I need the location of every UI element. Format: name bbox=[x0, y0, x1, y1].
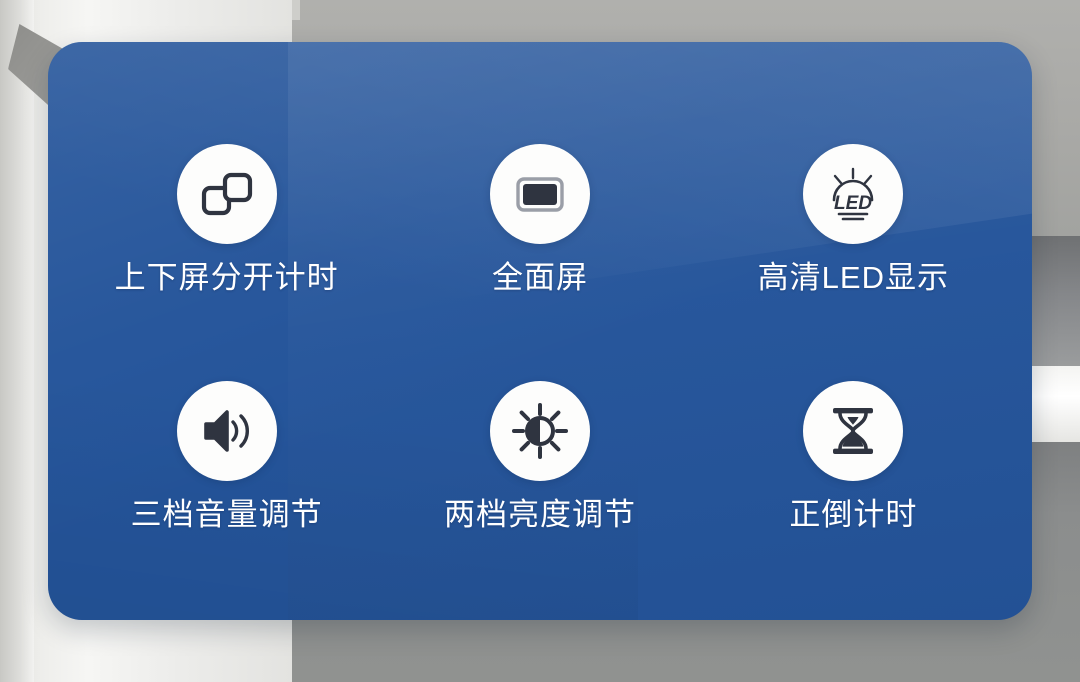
feature-label: 正倒计时 bbox=[789, 499, 917, 530]
feature-item-led-display[interactable]: LED 高清LED显示 bbox=[758, 144, 949, 293]
brightness-icon bbox=[490, 381, 590, 481]
feature-item-volume[interactable]: 三档音量调节 bbox=[131, 381, 323, 530]
feature-item-brightness[interactable]: 两档亮度调节 bbox=[444, 381, 636, 530]
feature-label: 全面屏 bbox=[492, 262, 588, 293]
feature-label: 上下屏分开计时 bbox=[115, 262, 339, 293]
feature-card: 上下屏分开计时 全面屏 bbox=[48, 42, 1032, 620]
feature-label: 两档亮度调节 bbox=[444, 499, 636, 530]
feature-item-full-screen[interactable]: 全面屏 bbox=[490, 144, 590, 293]
feature-label: 三档音量调节 bbox=[131, 499, 323, 530]
feature-item-split-screen[interactable]: 上下屏分开计时 bbox=[115, 144, 339, 293]
feature-label: 高清LED显示 bbox=[758, 262, 949, 293]
feature-grid: 上下屏分开计时 全面屏 bbox=[48, 42, 1032, 620]
led-icon-text: LED bbox=[834, 193, 872, 214]
full-screen-icon bbox=[490, 144, 590, 244]
split-screen-icon bbox=[177, 144, 277, 244]
background-wall-corner bbox=[0, 0, 34, 682]
feature-item-timer[interactable]: 正倒计时 bbox=[789, 381, 917, 530]
led-display-icon: LED bbox=[803, 144, 903, 244]
hourglass-icon bbox=[803, 381, 903, 481]
volume-icon bbox=[177, 381, 277, 481]
promo-banner: 上下屏分开计时 全面屏 bbox=[0, 0, 1080, 682]
